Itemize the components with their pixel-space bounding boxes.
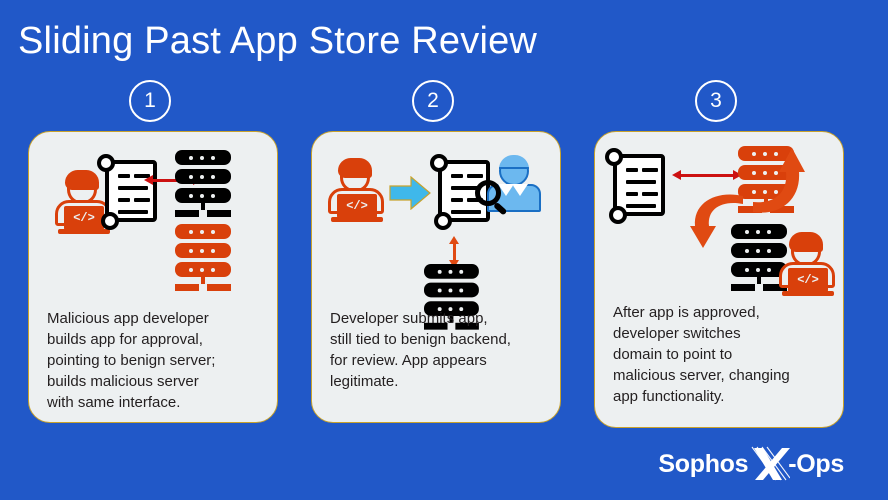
scroll-curl-top — [97, 154, 115, 172]
magnifier-handle — [493, 202, 507, 216]
server-base-left — [731, 284, 755, 291]
server-base-right — [207, 284, 231, 291]
server-base-left — [175, 210, 199, 217]
step-number-2-label: 2 — [427, 89, 439, 113]
server-unit — [175, 150, 231, 165]
step-number-2: 2 — [412, 80, 454, 122]
scroll-line — [626, 204, 656, 208]
magnifier-icon — [475, 180, 509, 214]
scroll-line — [451, 174, 463, 178]
scroll-curl-top — [430, 154, 448, 172]
laptop-icon: </> — [337, 194, 377, 218]
blue-arrow-icon — [389, 176, 431, 210]
reviewer-collar — [512, 184, 528, 196]
scroll-line — [467, 174, 483, 178]
black-server-icon — [175, 150, 231, 220]
step-1-illustration: </> — [29, 132, 278, 310]
server-base-right — [207, 210, 231, 217]
slide-canvas: Sliding Past App Store Review 1 2 3 </> — [0, 0, 888, 500]
server-stem — [201, 202, 205, 210]
scroll-curl-top — [605, 148, 623, 166]
step-3-illustration: </> — [595, 132, 844, 310]
scroll-line — [134, 198, 150, 202]
sophos-xops-logo: Sophos -Ops — [658, 446, 844, 482]
step-card-3: </> After app is approved, developer swi… — [594, 131, 844, 428]
scroll-line — [626, 180, 656, 184]
scroll-curl-bottom — [101, 212, 119, 230]
scroll-line — [626, 168, 638, 172]
scroll-line — [118, 174, 130, 178]
developer-hair — [338, 158, 372, 178]
server-unit — [175, 243, 231, 258]
double-arrow-icon — [681, 174, 733, 177]
laptop-icon: </> — [788, 268, 828, 292]
scroll-line — [118, 210, 148, 214]
scroll-document-icon — [97, 154, 169, 236]
scroll-line — [118, 198, 130, 202]
step-number-3: 3 — [695, 80, 737, 122]
developer-icon: </> — [777, 232, 839, 298]
step-number-3-label: 3 — [710, 89, 722, 113]
scroll-line — [451, 198, 463, 202]
scroll-curl-bottom — [609, 206, 627, 224]
step-card-1: </> — [28, 131, 278, 423]
logo-x-mark — [746, 446, 790, 482]
server-stem — [201, 276, 205, 284]
scroll-document-icon — [605, 148, 677, 230]
server-base-left — [175, 284, 199, 291]
laptop-base — [331, 217, 383, 222]
scroll-curl-bottom — [434, 212, 452, 230]
scroll-line — [642, 168, 658, 172]
server-unit — [175, 224, 231, 239]
server-unit — [175, 262, 231, 277]
step-3-caption: After app is approved, developer switche… — [613, 302, 829, 407]
server-stem — [757, 276, 761, 284]
developer-hair — [65, 170, 99, 190]
orange-server-icon — [175, 224, 231, 294]
step-2-illustration: </> — [312, 132, 561, 310]
server-unit — [175, 188, 231, 203]
step-1-caption: Malicious app developer builds app for a… — [47, 308, 263, 413]
scroll-line — [118, 186, 148, 190]
server-unit — [424, 283, 479, 298]
server-unit — [175, 169, 231, 184]
step-2-caption: Developer submits app, still tied to ben… — [330, 308, 546, 392]
developer-hair — [789, 232, 823, 252]
step-number-1: 1 — [129, 80, 171, 122]
developer-icon: </> — [326, 158, 388, 224]
laptop-base — [782, 291, 834, 296]
logo-text-sophos: Sophos — [658, 450, 748, 479]
server-unit — [424, 264, 479, 279]
vertical-arrow-icon — [453, 244, 456, 260]
reviewer-hair — [499, 155, 529, 169]
scroll-line — [626, 192, 638, 196]
curved-arrow-up-icon — [751, 146, 807, 218]
scroll-line — [642, 192, 658, 196]
page-title: Sliding Past App Store Review — [18, 20, 537, 63]
step-card-2: </> — [311, 131, 561, 423]
logo-text-ops: -Ops — [788, 450, 844, 479]
step-number-1-label: 1 — [144, 89, 156, 113]
